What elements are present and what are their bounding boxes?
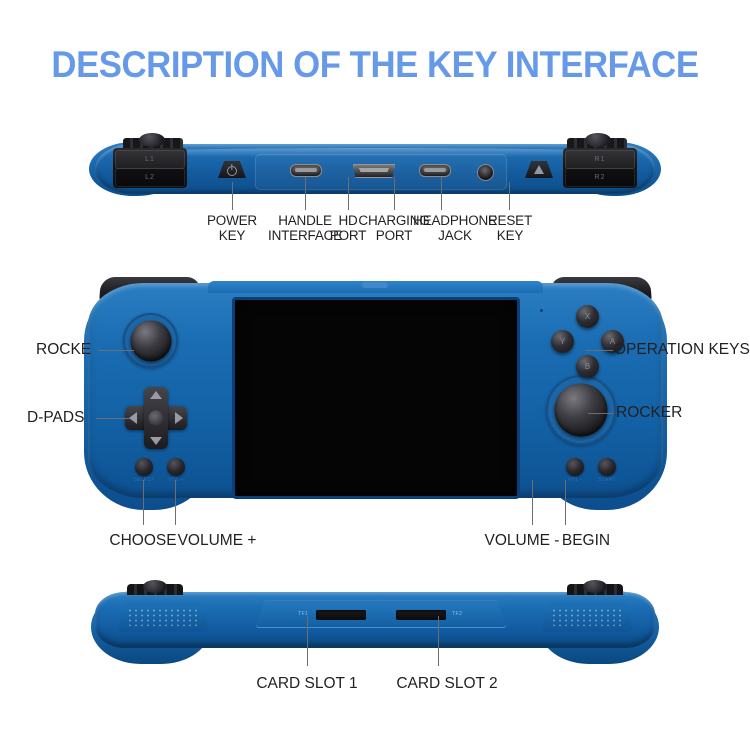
start-button[interactable] — [598, 458, 616, 476]
bottom-stick-profile-left-icon — [143, 580, 167, 593]
volume-down-button[interactable] — [566, 458, 584, 476]
speaker-grille-left-perforations — [127, 608, 199, 626]
headphone-jack-icon — [477, 164, 494, 181]
rocker-right-cap — [555, 384, 608, 437]
rocker-left-cap — [130, 320, 171, 361]
leader-charging-port — [394, 177, 395, 210]
power-symbol-icon — [227, 166, 237, 176]
leader-headphone-jack — [441, 177, 442, 210]
start-button-cap: START — [589, 477, 625, 483]
stick-profile-left-icon — [139, 133, 165, 147]
leader-choose — [143, 480, 144, 525]
shoulder-button-l1-label: L1 — [115, 150, 185, 169]
select-button[interactable] — [135, 458, 153, 476]
volume-down-button-cap: VOL - — [557, 477, 593, 483]
shoulder-button-r2-label: R2 — [565, 168, 635, 187]
callout-reset-key: RESET KEY — [485, 213, 535, 243]
rocker-left[interactable] — [123, 313, 178, 368]
leader-hd-port — [348, 177, 349, 210]
front-view: X Y A B SELECT VOL + VOL - START — [88, 283, 663, 510]
shoulder-buttons-right: R1 R2 — [563, 148, 637, 188]
callout-rocker-left: ROCKE — [36, 342, 106, 357]
display-screen — [232, 297, 520, 499]
leader-handle-interface — [305, 177, 306, 210]
bottom-stick-profile-right-icon — [583, 580, 607, 593]
handle-interface-port-icon — [290, 164, 322, 177]
callout-d-pads: D-PADS — [27, 410, 103, 425]
bottom-edge-view: TF1 TF2 — [95, 588, 655, 666]
shoulder-button-r1-label: R1 — [565, 150, 635, 169]
rocker-right[interactable] — [546, 375, 616, 445]
leader-begin — [565, 480, 566, 525]
callout-power-key: POWER KEY — [202, 213, 262, 243]
speaker-grille-right-perforations — [551, 608, 623, 626]
leader-card-slot-1 — [307, 616, 308, 666]
shoulder-buttons-left: L1 L2 — [113, 148, 187, 188]
callout-begin: BEGIN — [540, 533, 632, 548]
d-pad-down-arrow-icon[interactable] — [150, 437, 162, 445]
volume-up-button-cap: VOL + — [158, 477, 194, 483]
button-y[interactable]: Y — [551, 330, 574, 353]
speaker-grille-right — [541, 602, 633, 632]
leader-rocker-right — [588, 413, 614, 414]
leader-power-key — [232, 182, 233, 210]
volume-up-button[interactable] — [167, 458, 185, 476]
d-pad-up-arrow-icon[interactable] — [150, 391, 162, 399]
stick-profile-right-icon — [585, 133, 611, 147]
callout-operation-keys: OPERATION KEYS — [614, 342, 750, 357]
d-pad-left-arrow-icon[interactable] — [129, 412, 137, 424]
leader-volume-down — [532, 480, 533, 525]
shoulder-button-l2-label: L2 — [115, 168, 185, 187]
leader-operation-keys — [585, 350, 613, 351]
top-edge-view: L1 L2 R1 R2 — [95, 138, 655, 200]
d-pad-right-arrow-icon[interactable] — [175, 412, 183, 424]
reset-triangle-icon — [534, 165, 544, 174]
d-pad[interactable] — [125, 387, 187, 449]
leader-card-slot-2 — [438, 616, 439, 666]
hd-port-icon — [353, 164, 395, 178]
callout-volume-up: VOLUME + — [160, 533, 274, 548]
front-top-strip — [208, 281, 543, 293]
button-x[interactable]: X — [576, 305, 599, 328]
speaker-grille-left — [117, 602, 209, 632]
leader-volume-up — [175, 480, 176, 525]
callout-card-slot-1: CARD SLOT 1 — [243, 676, 371, 691]
callout-rocker-right: ROCKER — [616, 405, 706, 420]
select-button-cap: SELECT — [126, 477, 162, 483]
callout-card-slot-2: CARD SLOT 2 — [383, 676, 511, 691]
button-b[interactable]: B — [576, 355, 599, 378]
card-slot-1[interactable] — [316, 610, 366, 620]
page-title: DESCRIPTION OF THE KEY INTERFACE — [23, 44, 728, 86]
card-slot-panel: TF1 TF2 — [255, 600, 507, 628]
card-slot-2-cap: TF2 — [452, 611, 462, 617]
charging-port-icon — [419, 164, 451, 177]
product-diagram-page: DESCRIPTION OF THE KEY INTERFACE L1 L2 R… — [0, 0, 750, 750]
d-pad-center-hub — [149, 411, 164, 426]
leader-reset-key — [509, 182, 510, 210]
indicator-led-icon — [540, 309, 543, 312]
